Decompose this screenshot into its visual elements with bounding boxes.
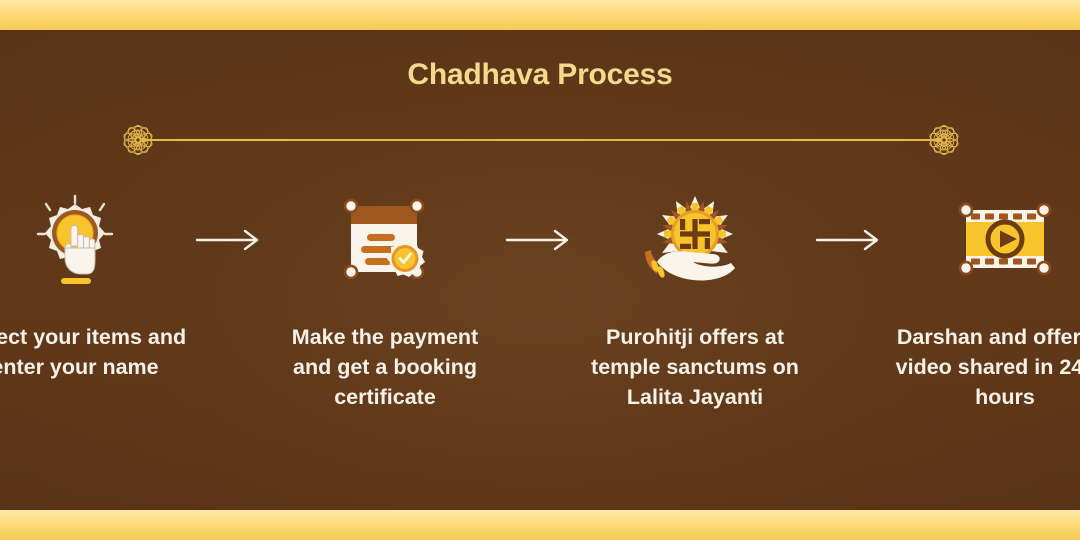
process-steps-row: Select your items and enter your name — [0, 190, 1080, 420]
step-4-icon-wrap — [954, 190, 1056, 290]
bottom-decorative-border — [0, 510, 1080, 540]
arrow-right-icon — [505, 228, 575, 252]
step-1-caption: Select your items and enter your name — [0, 322, 190, 382]
step-1-icon-wrap — [29, 190, 121, 290]
connector-3 — [806, 190, 894, 290]
connector-1 — [186, 190, 274, 290]
arrow-right-icon — [195, 228, 265, 252]
step-2-caption: Make the payment and get a booking certi… — [270, 322, 500, 412]
process-step-1: Select your items and enter your name — [0, 190, 186, 382]
page-title: Chadhava Process — [0, 58, 1080, 92]
step-2-icon-wrap — [335, 190, 435, 290]
video-film-play-icon — [954, 190, 1056, 290]
divider-rule — [140, 139, 942, 141]
arrow-right-icon — [815, 228, 885, 252]
step-3-caption: Purohitji offers at temple sanctums on L… — [580, 322, 810, 412]
tap-select-icon — [29, 190, 121, 290]
connector-2 — [496, 190, 584, 290]
process-step-2: Make the payment and get a booking certi… — [274, 190, 496, 412]
step-4-caption: Darshan and offering video shared in 24-… — [890, 322, 1080, 412]
mandala-ornament-right-icon — [924, 120, 964, 160]
step-3-icon-wrap — [643, 190, 747, 290]
process-step-4: Darshan and offering video shared in 24-… — [894, 190, 1080, 412]
chadhava-process-infographic: Chadhava Process — [0, 0, 1080, 540]
offering-hand-swastika-icon — [643, 190, 747, 290]
mandala-ornament-left-icon — [118, 120, 158, 160]
certificate-icon — [335, 190, 435, 290]
top-decorative-border — [0, 0, 1080, 30]
ornamental-divider — [118, 120, 964, 160]
process-step-3: Purohitji offers at temple sanctums on L… — [584, 190, 806, 412]
